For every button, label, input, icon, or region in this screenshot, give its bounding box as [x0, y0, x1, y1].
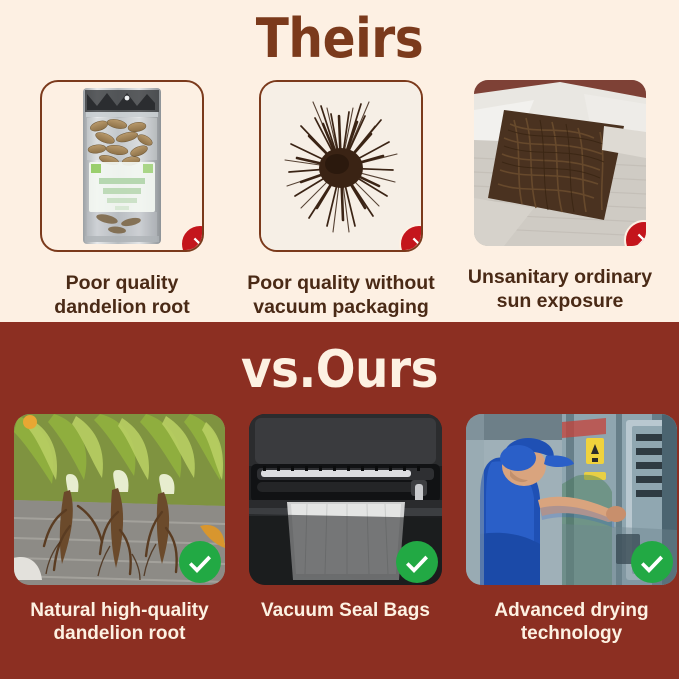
theirs-section: Theirs [0, 0, 679, 322]
ours-caption-3: Advanced drying technology [464, 599, 679, 645]
loose-dandelion-root-clump-image [261, 82, 421, 250]
theirs-caption-1: Poor quality dandelion root [15, 272, 230, 320]
comparison-infographic: Theirs [0, 0, 679, 679]
ours-image-frame-3 [466, 414, 677, 585]
theirs-item-1: Poor quality dandelion root [16, 80, 228, 320]
ours-image-frame-2 [249, 414, 442, 585]
ours-caption-1: Natural high-quality dandelion root [12, 599, 227, 645]
theirs-heading: Theirs [34, 12, 645, 66]
theirs-image-frame-3 [474, 80, 646, 246]
ours-card-row: Natural high-quality dandelion root [12, 414, 679, 645]
theirs-caption-2: Poor quality without vacuum packaging [234, 272, 449, 320]
theirs-caption-3: Unsanitary ordinary sun exposure [453, 266, 668, 314]
ours-item-2: Vacuum Seal Bags [238, 414, 453, 645]
check-mark-icon-2 [396, 541, 438, 583]
ours-item-3: Advanced drying technology [464, 414, 679, 645]
theirs-card-row: Poor quality dandelion root [16, 80, 666, 320]
theirs-image-frame-2 [259, 80, 423, 252]
theirs-item-2: Poor quality without vacuum packaging [235, 80, 447, 320]
sun-drying-roots-image [474, 80, 646, 246]
dandelion-root-pouch-image [81, 86, 163, 246]
theirs-image-frame-1 [40, 80, 204, 252]
theirs-item-3: Unsanitary ordinary sun exposure [454, 80, 666, 320]
x-mark-icon-1 [180, 224, 204, 252]
check-mark-icon-3 [631, 541, 673, 583]
ours-heading: vs.Ours [34, 344, 645, 396]
ours-image-frame-1 [14, 414, 225, 585]
ours-section: vs.Ours [0, 322, 679, 679]
ours-item-1: Natural high-quality dandelion root [12, 414, 227, 645]
ours-caption-2: Vacuum Seal Bags [238, 599, 453, 622]
check-mark-icon-1 [179, 541, 221, 583]
